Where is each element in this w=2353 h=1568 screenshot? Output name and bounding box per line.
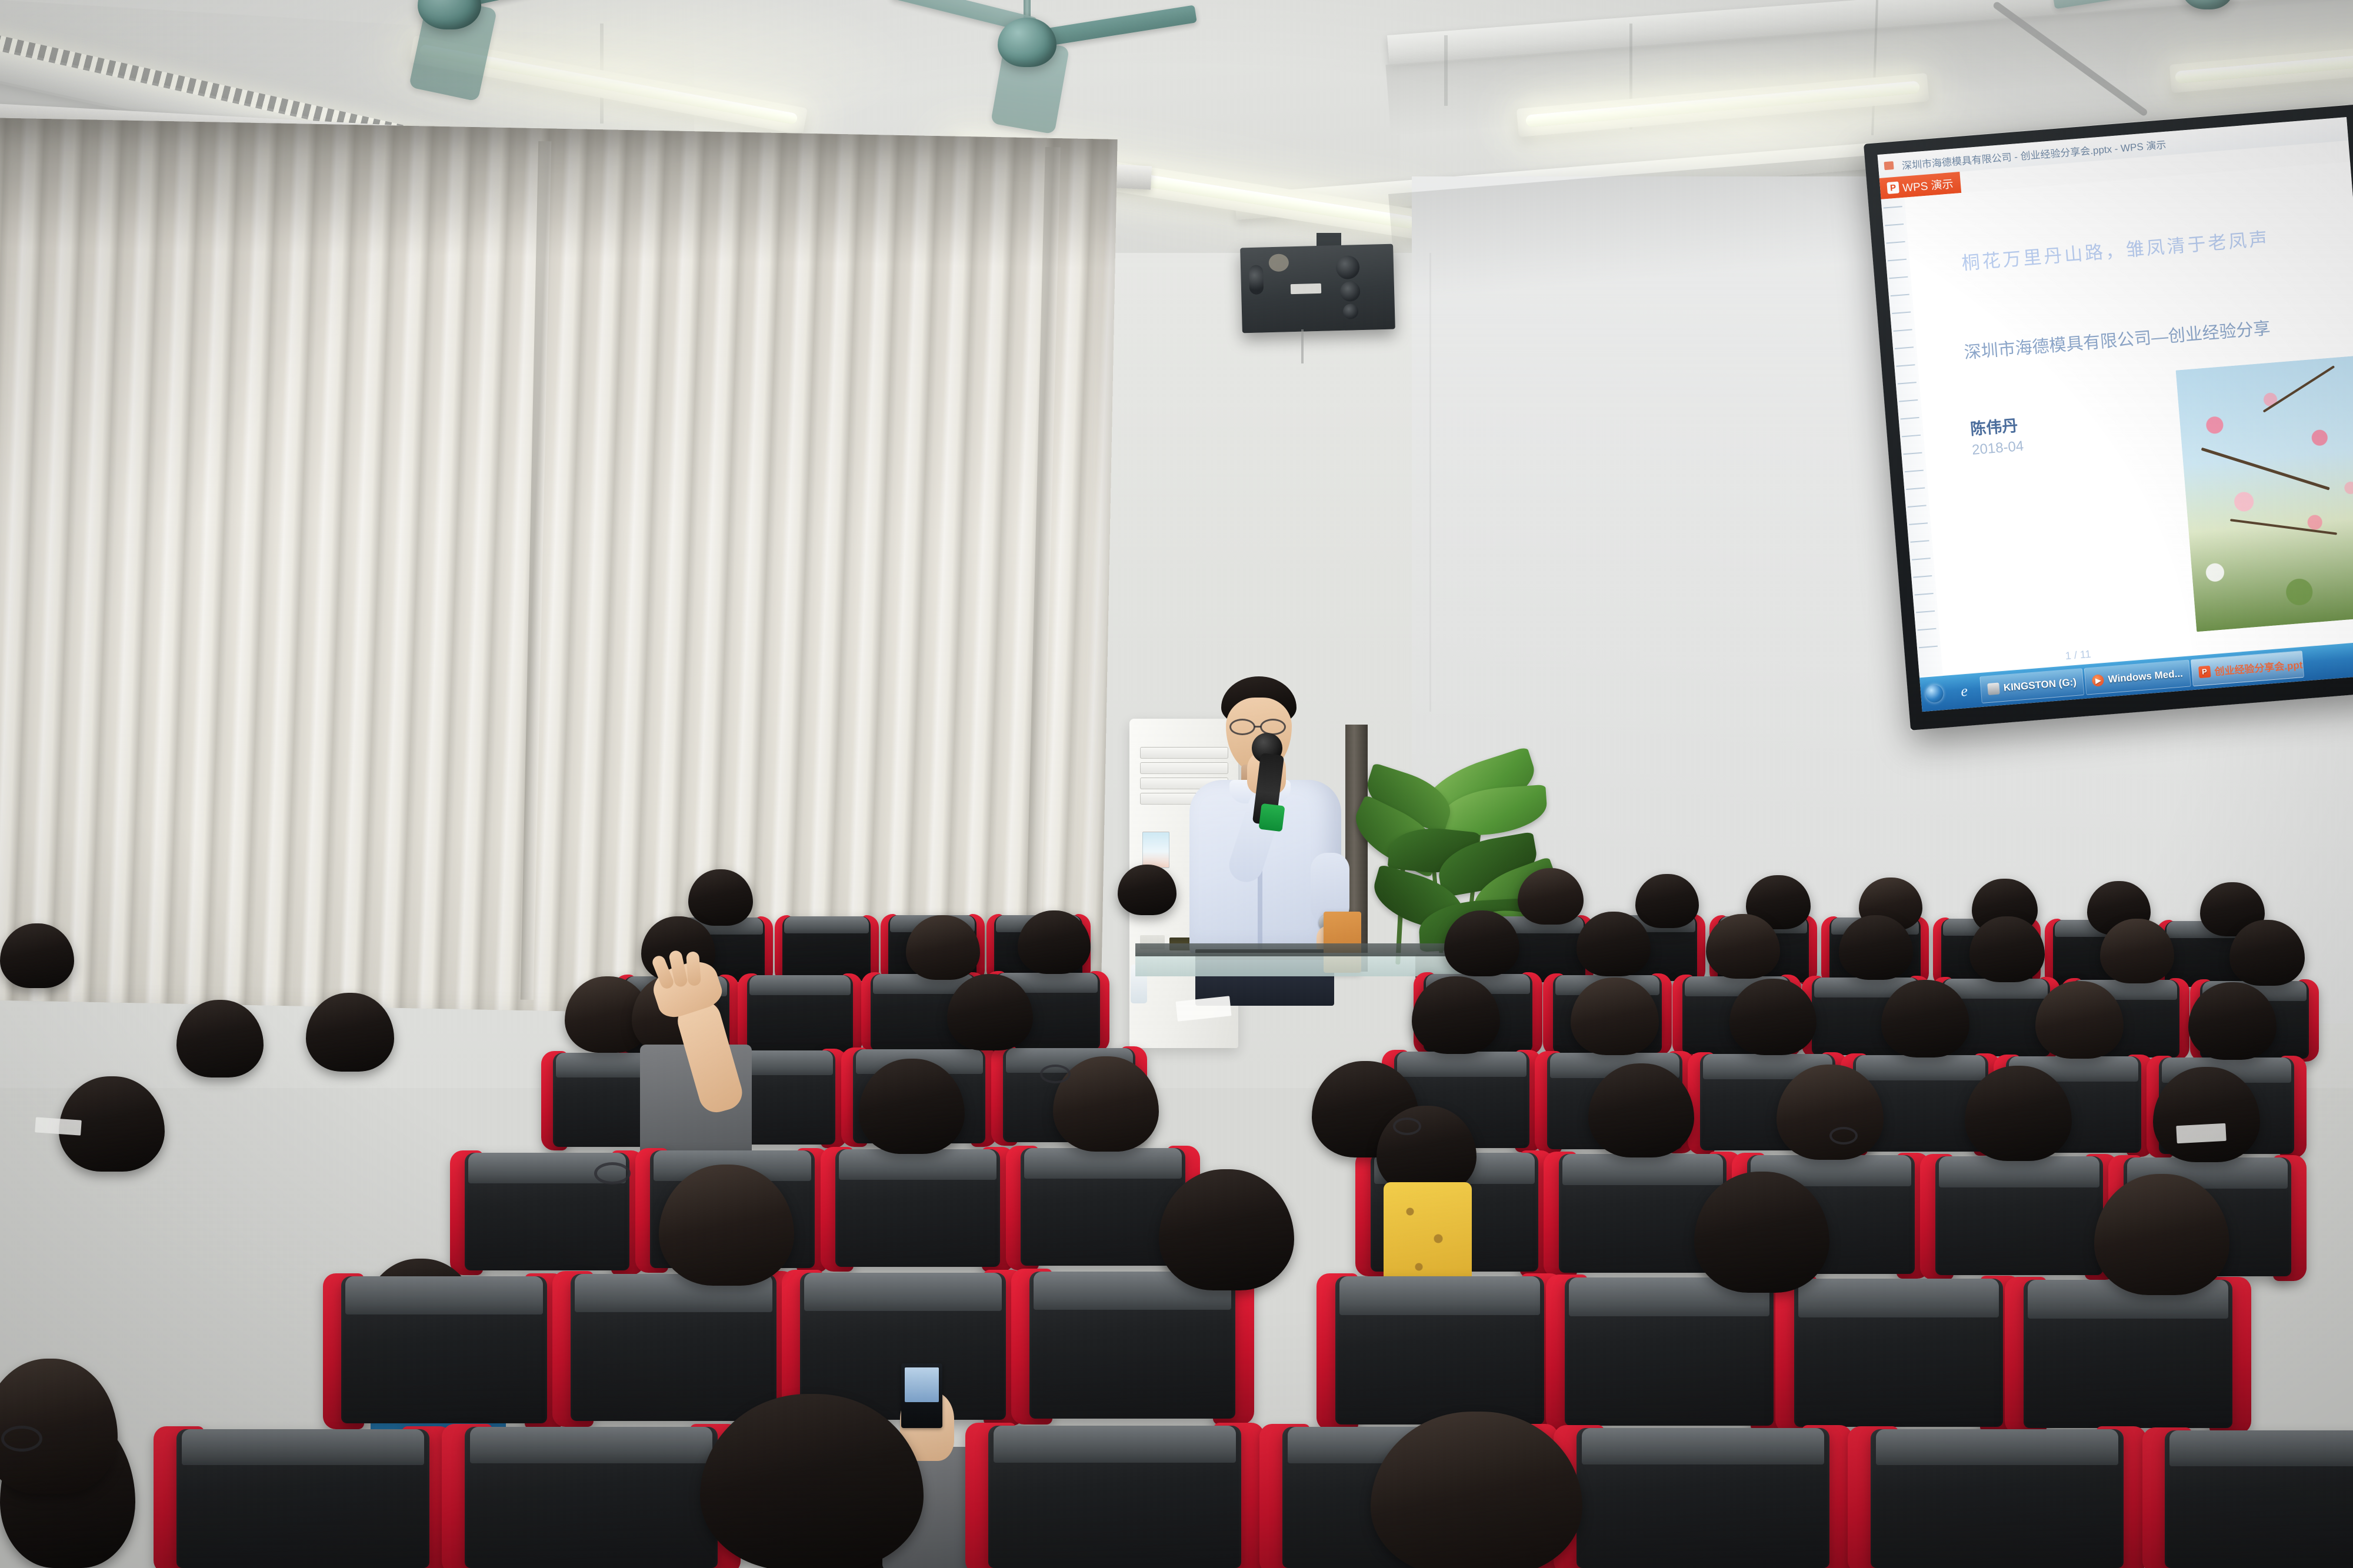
seat bbox=[1335, 1276, 1544, 1424]
wall-speaker bbox=[1241, 246, 1394, 331]
seat bbox=[988, 1426, 1241, 1568]
audience-head bbox=[1969, 916, 2045, 982]
slide-subtitle: 深圳市海德模具有限公司—创业经验分享 bbox=[1963, 315, 2271, 364]
slide-page-indicator[interactable]: 1 / 11 bbox=[2065, 648, 2091, 662]
audience-head bbox=[1577, 912, 1651, 976]
seat bbox=[465, 1427, 718, 1568]
slide-title: 桐花万里丹山路，雏凤清于老凤声 bbox=[1961, 223, 2271, 275]
seat bbox=[571, 1274, 776, 1421]
speaker-highlight bbox=[1268, 253, 1289, 272]
taskbar-item-wps[interactable]: P 创业经验分享会.pptx bbox=[2191, 650, 2304, 686]
auditorium-photo: 深圳市海德模具有限公司 - 创业经验分享会.pptx - WPS 演示 P WP… bbox=[0, 0, 2353, 1568]
audience-head bbox=[2100, 919, 2174, 983]
wps-presentation-icon: P bbox=[2198, 666, 2211, 679]
audience-glasses bbox=[1040, 1065, 1071, 1083]
presenter-glasses bbox=[1229, 719, 1255, 735]
seat bbox=[1577, 1428, 1829, 1568]
taskbar-item-kingston[interactable]: KINGSTON (G:) bbox=[1979, 668, 2084, 703]
audience-head bbox=[1518, 868, 1584, 925]
taskbar-item-wmp[interactable]: ▶ Windows Med... bbox=[2084, 660, 2191, 695]
audience-person-glasses-left bbox=[0, 1347, 159, 1568]
audience-glasses bbox=[1393, 1117, 1421, 1135]
microphone-green-band bbox=[1258, 803, 1285, 832]
ie-icon[interactable]: e bbox=[1955, 682, 1973, 700]
taskbar-label: KINGSTON (G:) bbox=[2003, 676, 2077, 694]
wall-corner-seam-2 bbox=[1429, 253, 1431, 712]
audience-head bbox=[688, 869, 753, 926]
audience-head bbox=[1159, 1169, 1294, 1290]
audience-glasses bbox=[1829, 1127, 1858, 1145]
seat bbox=[2024, 1280, 2232, 1428]
speaker-tweeter bbox=[1343, 303, 1359, 319]
audience-head bbox=[1377, 1106, 1477, 1194]
display-screen[interactable]: 深圳市海德模具有限公司 - 创业经验分享会.pptx - WPS 演示 P WP… bbox=[1878, 117, 2353, 712]
taskbar-label: 创业经验分享会.pptx bbox=[2214, 656, 2304, 679]
speaker-side-cone bbox=[1249, 265, 1264, 295]
seat bbox=[341, 1276, 547, 1423]
ceiling-hanger-rod-left-2 bbox=[1444, 35, 1448, 106]
seat bbox=[1565, 1277, 1774, 1426]
seat bbox=[1029, 1272, 1235, 1419]
slide-date: 2018-04 bbox=[1971, 438, 2024, 459]
speaker-woofer bbox=[1336, 255, 1360, 279]
curtain-top-shadow bbox=[0, 118, 1118, 269]
taskbar-label: Windows Med... bbox=[2108, 668, 2184, 685]
audience-person-raising-hand bbox=[618, 935, 812, 1182]
audience-head bbox=[1839, 915, 1913, 980]
presenter-glasses-bridge bbox=[1254, 726, 1261, 728]
start-button[interactable] bbox=[1925, 684, 1944, 703]
audience-head bbox=[1635, 874, 1699, 928]
wall-display: 深圳市海德模具有限公司 - 创业经验分享会.pptx - WPS 演示 P WP… bbox=[1864, 105, 2353, 730]
ceiling-fan-right bbox=[2053, 0, 2353, 53]
hand-finger bbox=[686, 951, 701, 986]
tab-label: WPS 演示 bbox=[1902, 175, 1954, 195]
seat bbox=[176, 1429, 429, 1568]
seat bbox=[1935, 1156, 2103, 1275]
speaker-cable bbox=[1301, 329, 1304, 363]
audience-head bbox=[2229, 920, 2305, 986]
wps-presentation-icon: P bbox=[1887, 181, 1899, 194]
audience-person-yellow-top bbox=[1371, 1106, 1524, 1300]
audience-paper bbox=[2176, 1123, 2226, 1143]
ceiling-fan-center bbox=[912, 0, 1359, 135]
audience-glasses bbox=[1, 1426, 42, 1452]
slide-blossom-photo bbox=[2176, 355, 2353, 632]
windows-media-player-icon: ▶ bbox=[2092, 674, 2105, 687]
seat bbox=[1794, 1279, 2003, 1427]
audience-head bbox=[1118, 865, 1176, 915]
seat bbox=[835, 1149, 1000, 1267]
wps-app-icon bbox=[1884, 161, 1894, 170]
audience-head bbox=[1706, 914, 1780, 979]
seat bbox=[2165, 1430, 2353, 1568]
usb-drive-icon bbox=[1987, 682, 2000, 695]
audience-head bbox=[906, 915, 980, 980]
audience-head bbox=[0, 923, 74, 988]
ceiling-fan-left bbox=[329, 0, 776, 94]
slide-presenter-name: 陈伟丹 bbox=[1969, 413, 2019, 439]
audience-head bbox=[1444, 910, 1519, 976]
speaker-mid bbox=[1340, 281, 1361, 302]
smartphone[interactable] bbox=[901, 1363, 942, 1428]
audience-glasses bbox=[594, 1162, 631, 1185]
audience-head bbox=[1018, 910, 1091, 974]
audience-paper bbox=[35, 1117, 82, 1135]
slide-canvas[interactable]: 桐花万里丹山路，雏凤清于老凤声 深圳市海德模具有限公司—创业经验分享 陈伟丹 2… bbox=[1904, 162, 2353, 675]
speaker-badge bbox=[1291, 283, 1321, 294]
seat bbox=[1871, 1429, 2124, 1568]
